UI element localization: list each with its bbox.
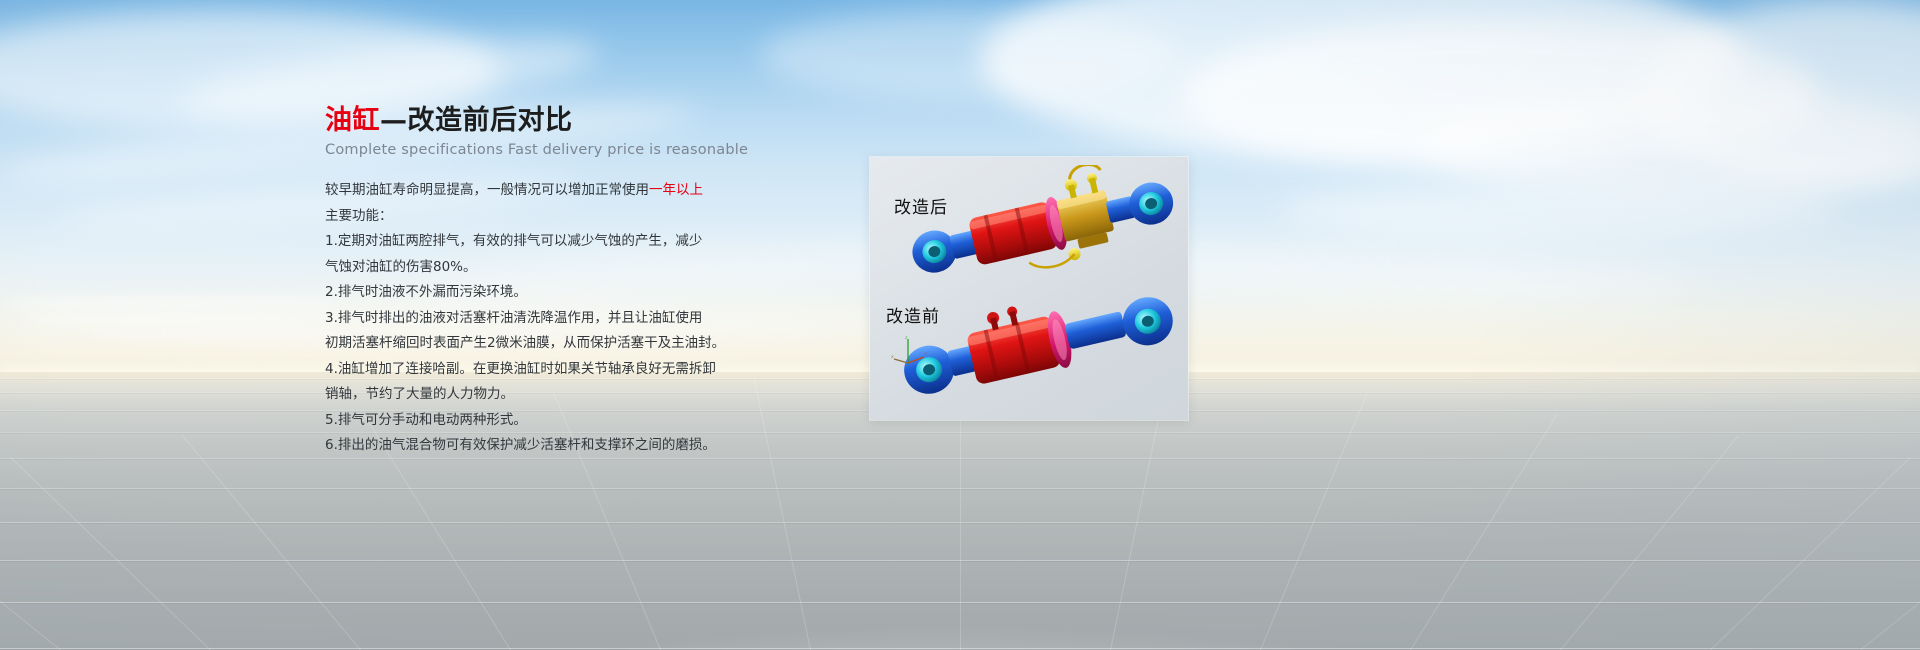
feature-list: 较早期油缸寿命明显提高，一般情况可以增加正常使用一年以上主要功能：1.定期对油缸… [325,178,745,459]
feature-line: 1.定期对油缸两腔排气，有效的排气可以减少气蚀的产生，减少 [325,229,745,255]
feature-line-text: 气蚀对油缸的伤害80%。 [325,259,477,275]
feature-line: 5.排气可分手动和电动两种形式。 [325,408,745,434]
cad-axis-triad-icon: Z X Y [890,335,930,367]
pavement-seam-vertical [10,457,211,650]
pavement-seam-vertical [1560,436,1738,650]
feature-line: 主要功能： [325,204,745,230]
pavement-seam-vertical [183,436,361,650]
feature-line: 3.排气时排出的油液对活塞杆油清洗降温作用，并且让油缸使用 [325,306,745,332]
pavement-seam-vertical [1710,457,1911,650]
feature-line: 4.油缸增加了连接哈副。在更换油缸时如果关节轴承良好无需拆卸 [325,357,745,383]
feature-line: 初期活塞杆缩回时表面产生2微米油膜，从而保护活塞干及主油封。 [325,331,745,357]
feature-line-text: 6.排出的油气混合物可有效保护减少活塞杆和支撑环之间的磨损。 [325,437,716,453]
feature-line-text: 较早期油缸寿命明显提高，一般情况可以增加正常使用 [325,182,649,198]
cylinder-assembly-before [890,275,1180,395]
feature-line: 6.排出的油气混合物可有效保护减少活塞杆和支撑环之间的磨损。 [325,433,745,459]
page-title-highlight: 油缸 [325,105,380,136]
feature-line-highlight: 一年以上 [649,182,703,198]
cloud-streak [0,300,340,306]
product-image-panel: 改造后 改造前 [870,157,1188,420]
feature-line-text: 销轴，节约了大量的人力物力。 [325,386,514,402]
feature-line-text: 1.定期对油缸两腔排气，有效的排气可以减少气蚀的产生，减少 [325,233,702,249]
cloud [1280,180,1840,240]
feature-line-text: 主要功能： [325,208,393,224]
cloud-streak [90,330,350,336]
feature-line: 气蚀对油缸的伤害80%。 [325,255,745,281]
page-title-rest: —改造前后对比 [380,105,573,136]
svg-text:X: X [891,354,894,359]
banner-text-block: 油缸—改造前后对比 Complete specifications Fast d… [325,104,745,459]
feature-line-text: 2.排气时油液不外漏而污染环境。 [325,284,527,300]
page-subtitle: Complete specifications Fast delivery pr… [325,142,745,158]
feature-line: 较早期油缸寿命明显提高，一般情况可以增加正常使用一年以上 [325,178,745,204]
banner-stage: 油缸—改造前后对比 Complete specifications Fast d… [0,0,1920,650]
feature-line-text: 4.油缸增加了连接哈副。在更换油缸时如果关节轴承良好无需拆卸 [325,361,716,377]
feature-line-text: 初期活塞杆缩回时表面产生2微米油膜，从而保护活塞干及主油封。 [325,335,725,351]
feature-line: 销轴，节约了大量的人力物力。 [325,382,745,408]
pavement-seam-vertical [754,378,811,650]
pavement-seam-vertical [1860,476,1920,650]
pavement-seam-vertical [1410,414,1558,650]
feature-line-text: 3.排气时排出的油液对活塞杆油清洗降温作用，并且让油缸使用 [325,310,702,326]
cylinder-assembly-after [900,165,1180,275]
pavement-seam-vertical [0,476,61,650]
feature-line-text: 5.排气可分手动和电动两种形式。 [325,412,527,428]
svg-text:Y: Y [924,351,927,356]
page-title: 油缸—改造前后对比 [325,104,745,138]
feature-line: 2.排气时油液不外漏而污染环境。 [325,280,745,306]
cloud-streak [20,316,320,322]
